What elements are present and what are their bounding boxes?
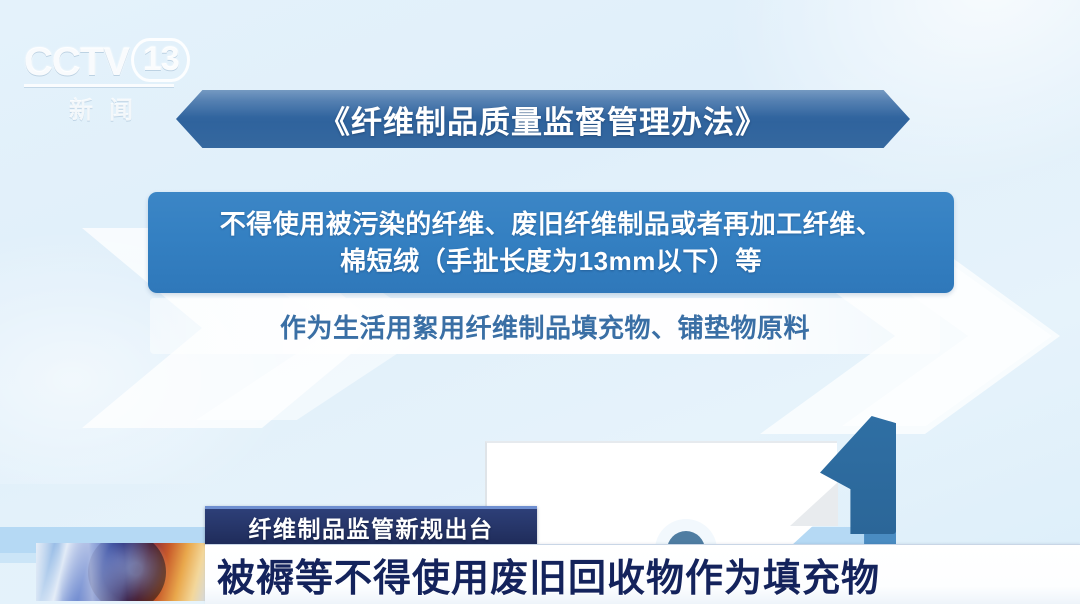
logo-channel-number: 13 [131, 38, 190, 82]
logo-main-text: CCTV [24, 42, 129, 82]
page-title: 《纤维制品质量监督管理办法》 [176, 90, 910, 148]
category-label-bar: 纤维制品监管新规出台 [205, 506, 537, 544]
headline-bar: 被褥等不得使用废旧回收物作为填充物 [205, 544, 1080, 604]
headline-text: 被褥等不得使用废旧回收物作为填充物 [217, 547, 880, 602]
document-fold-corner-icon [790, 482, 838, 526]
logo-divider [24, 84, 174, 87]
regulation-text-panel: 不得使用被污染的纤维、废旧纤维制品或者再加工纤维、 棉短绒（手扯长度为13mm以… [148, 192, 954, 293]
broadcast-screen: CCTV 13 新闻 《纤维制品质量监督管理办法》 不得使用被污染的纤维、废旧纤… [0, 0, 1080, 604]
category-label-text: 纤维制品监管新规出台 [249, 510, 494, 544]
logo-subtitle: 新闻 [24, 90, 194, 125]
document-card-icon [485, 441, 837, 549]
news-globe-graphic [36, 543, 208, 601]
arrow-left-pointer-icon [820, 416, 896, 534]
logo-wordmark: CCTV 13 [24, 38, 194, 82]
regulation-text-line-1: 不得使用被污染的纤维、废旧纤维制品或者再加工纤维、 [220, 206, 883, 243]
globe-light-sweep [36, 543, 208, 601]
regulation-subtext-row: 作为生活用絮用纤维制品填充物、铺垫物原料 [150, 301, 940, 351]
infographic-title-ribbon: 《纤维制品质量监督管理办法》 [176, 90, 910, 148]
regulation-text-line-3: 作为生活用絮用纤维制品填充物、铺垫物原料 [280, 308, 810, 345]
regulation-text-line-2: 棉短绒（手扯长度为13mm以下）等 [340, 243, 762, 280]
cctv13-watermark-logo: CCTV 13 新闻 [24, 38, 194, 122]
